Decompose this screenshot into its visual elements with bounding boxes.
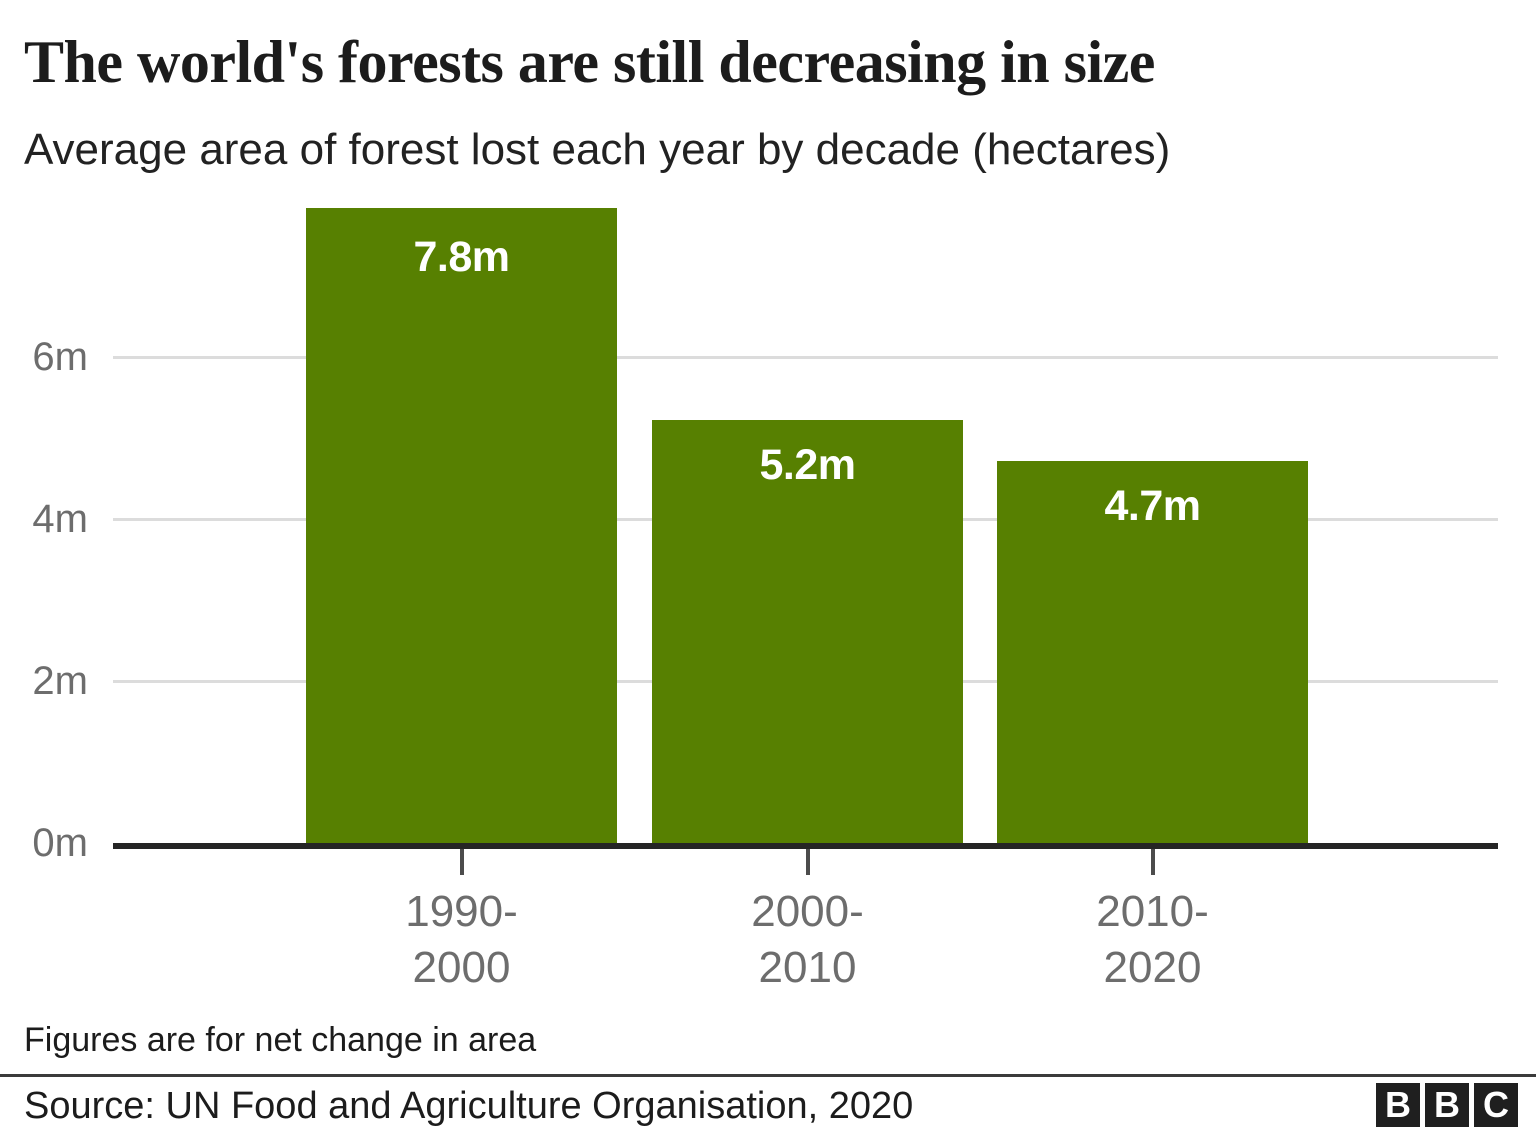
x-tick-label-2010-2020: 2010- 2020 bbox=[997, 884, 1308, 996]
bbc-logo: B B C bbox=[1376, 1083, 1518, 1127]
y-tick-label-4m: 4m bbox=[0, 499, 88, 539]
x-tick-mark-2010-2020 bbox=[1151, 849, 1155, 875]
bar-value-label: 7.8m bbox=[306, 236, 617, 279]
y-tick-label-2m: 2m bbox=[0, 661, 88, 701]
bbc-logo-letter-3: C bbox=[1474, 1083, 1518, 1127]
bar-value-label: 5.2m bbox=[652, 444, 963, 487]
y-tick-label-6m: 6m bbox=[0, 337, 88, 377]
bbc-logo-letter-1: B bbox=[1376, 1083, 1420, 1127]
bar-2000-2010[interactable]: 5.2m bbox=[652, 420, 963, 843]
footer-divider bbox=[0, 1074, 1536, 1077]
x-tick-label-2000-2010: 2000- 2010 bbox=[652, 884, 963, 996]
x-tick-label-1990-2000: 1990- 2000 bbox=[306, 884, 617, 996]
bar-value-label: 4.7m bbox=[997, 485, 1308, 528]
source-attribution: Source: UN Food and Agriculture Organisa… bbox=[24, 1084, 913, 1128]
x-tick-mark-1990-2000 bbox=[460, 849, 464, 875]
bar-2010-2020[interactable]: 4.7m bbox=[997, 461, 1308, 843]
bar-1990-2000[interactable]: 7.8m bbox=[306, 208, 617, 843]
x-tick-mark-2000-2010 bbox=[806, 849, 810, 875]
bbc-logo-letter-2: B bbox=[1425, 1083, 1469, 1127]
chart-footnote: Figures are for net change in area bbox=[24, 1019, 536, 1061]
bar-chart-plot-area: 6m 4m 2m 0m 7.8m 5.2m 4.7m 1990- 2000 20… bbox=[0, 0, 1536, 1010]
y-tick-label-0m: 0m bbox=[0, 823, 88, 863]
